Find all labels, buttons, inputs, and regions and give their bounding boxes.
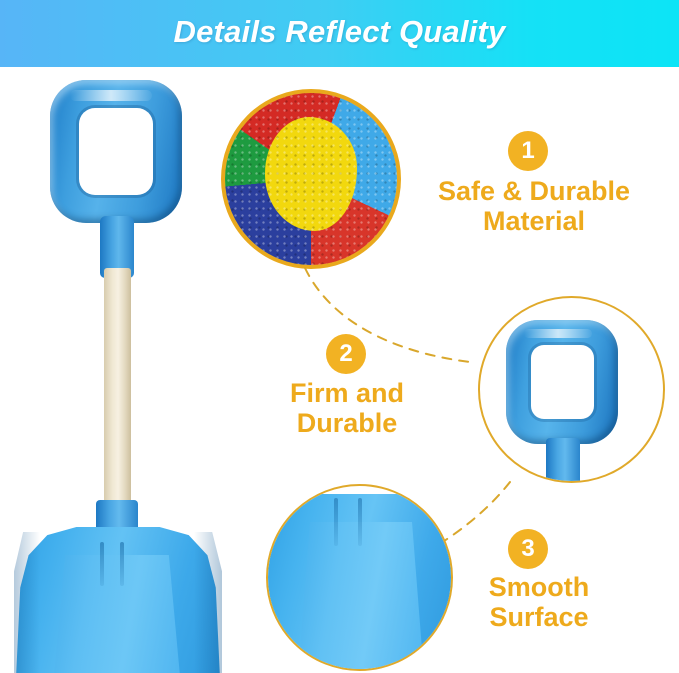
pellets-circle-image xyxy=(221,89,401,269)
feature-title-2: Firm and Durable xyxy=(256,378,438,438)
header-banner: Details Reflect Quality xyxy=(0,0,679,67)
wooden-shaft xyxy=(104,268,131,510)
page-title: Details Reflect Quality xyxy=(0,0,679,67)
pellet-granule-texture xyxy=(225,93,397,265)
handle-detail-stem xyxy=(546,438,580,483)
feature-title-3: Smooth Surface xyxy=(434,572,644,632)
shovel-grip-handle xyxy=(50,80,182,223)
blade-ridge-right xyxy=(120,542,124,586)
grip-opening xyxy=(79,108,153,195)
blade-detail-ridge-right xyxy=(358,498,362,546)
blade-detail-ridge-left xyxy=(334,498,338,546)
blade-detail-circle xyxy=(266,484,453,671)
feature-badge-3: 3 xyxy=(508,529,548,569)
handle-detail-highlight xyxy=(524,329,592,338)
grip-highlight xyxy=(70,90,152,101)
feature-badge-2: 2 xyxy=(326,334,366,374)
handle-detail-circle xyxy=(478,296,665,483)
product-illustration xyxy=(8,72,233,662)
handle-detail-grip xyxy=(506,320,618,444)
blade-shadow-right xyxy=(194,532,222,673)
feature-badge-1: 1 xyxy=(508,131,548,171)
blade-ridge-left xyxy=(100,542,104,586)
feature-title-1: Safe & Durable Material xyxy=(396,176,672,236)
handle-detail-opening xyxy=(531,345,594,419)
infographic-page: Details Reflect Quality xyxy=(0,0,679,673)
blade-shadow-left xyxy=(14,532,40,673)
